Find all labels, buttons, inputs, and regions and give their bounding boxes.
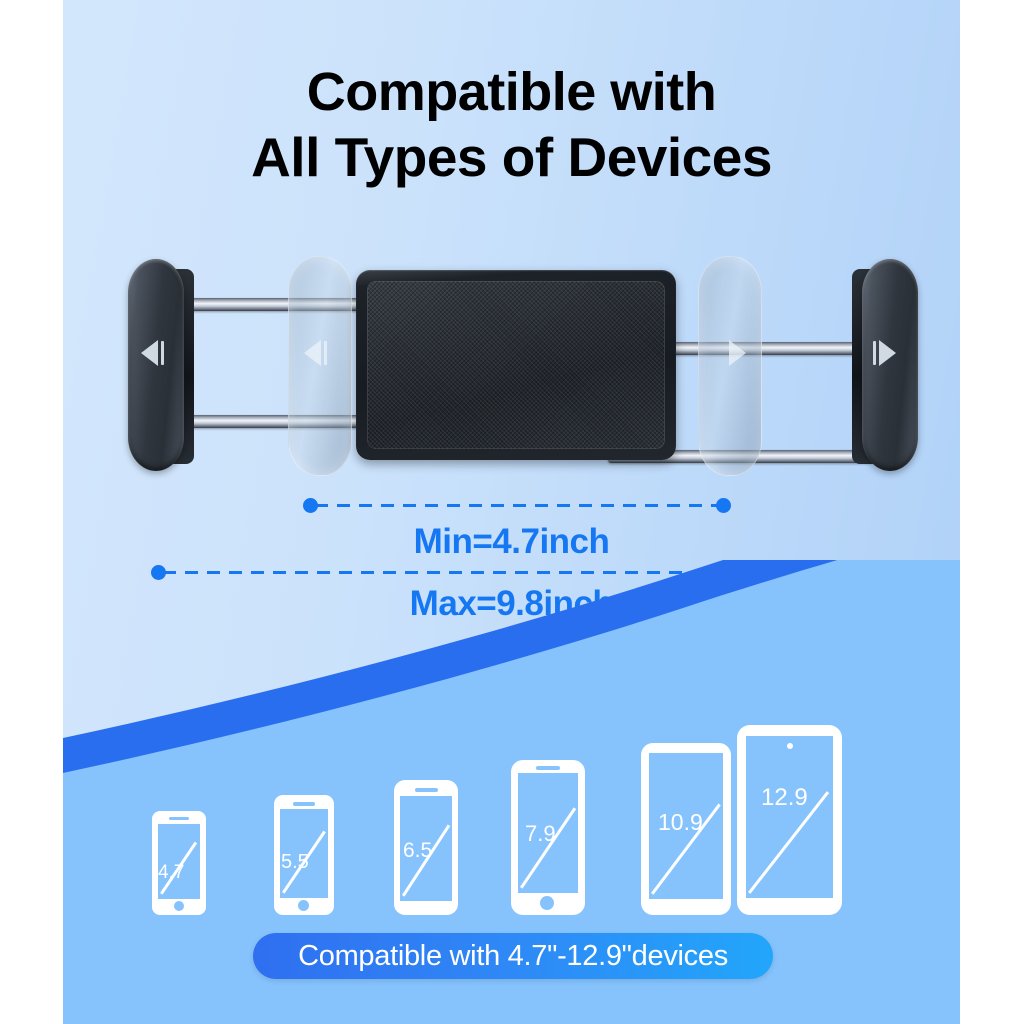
measure-label-min: Min=4.7inch	[63, 522, 960, 562]
arrow-right-icon-ghost	[720, 336, 750, 370]
infographic-panel: Compatible with All Types of Devices	[63, 0, 960, 1024]
device-icon-7-9: 7.9	[511, 760, 585, 915]
measure-line-min	[303, 496, 731, 514]
device-size-label: 7.9	[525, 823, 556, 845]
page-title-line-1: Compatible with	[63, 62, 960, 122]
device-size-label: 5.5	[281, 851, 309, 873]
measure-endpoint-right	[716, 498, 731, 513]
device-icon-5-5: 5.5	[274, 795, 334, 915]
device-size-label: 6.5	[403, 840, 432, 862]
arrow-left-icon	[141, 336, 171, 370]
device-size-label: 10.9	[658, 811, 703, 833]
infographic-canvas: Compatible with All Types of Devices	[0, 0, 1024, 1024]
arrow-right-icon	[870, 336, 900, 370]
device-size-label: 4.7	[158, 862, 184, 884]
page-title-line-2: All Types of Devices	[63, 127, 960, 187]
measure-dashes	[315, 504, 719, 507]
device-icon-10-9: 10.9	[641, 743, 731, 915]
compatibility-banner: Compatible with 4.7"-12.9"devices	[253, 933, 773, 979]
device-icon-4-7: 4.7	[152, 811, 206, 915]
device-icon-6-5: 6.5	[394, 780, 458, 915]
holder-back-pad	[356, 270, 676, 460]
product-illustration	[128, 250, 918, 480]
device-size-label: 12.9	[761, 787, 808, 809]
pad-mesh-texture	[367, 281, 665, 449]
device-icon-12-9: 12.9	[737, 725, 842, 915]
device-size-row: 4.7 5.5 6.5	[63, 725, 960, 915]
arrow-left-icon-ghost	[304, 336, 334, 370]
